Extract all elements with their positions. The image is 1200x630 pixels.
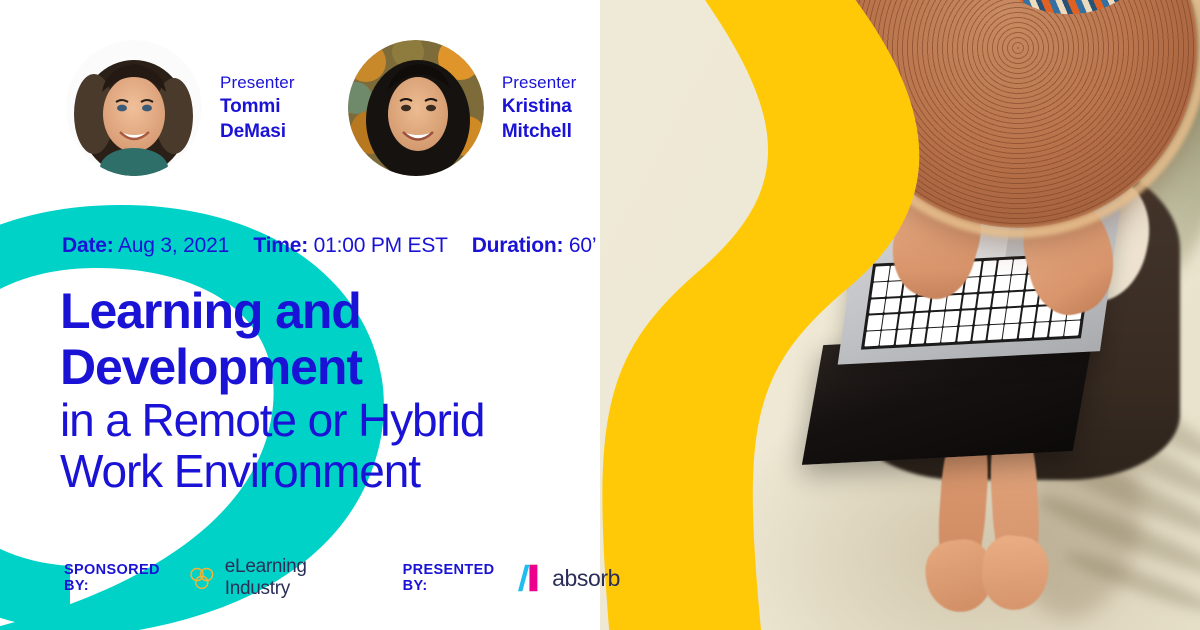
title-line-3: in a Remote or Hybrid (60, 395, 484, 446)
sponsored-by-label: SPONSORED BY: (64, 562, 179, 594)
presenter-name: Kristina Mitchell (502, 94, 620, 144)
time-value: 01:00 PM EST (314, 234, 448, 257)
presenter-name: Tommi DeMasi (220, 94, 326, 144)
date-value: Aug 3, 2021 (118, 234, 229, 257)
sponsor-group: SPONSORED BY: eLearning Industry (64, 556, 365, 600)
footer-logo-row: SPONSORED BY: eLearning Industry PRESENT… (64, 556, 620, 600)
webinar-promo-banner: Presenter Tommi DeMasi (0, 0, 1200, 630)
presenter-card: Presenter Kristina Mitchell (348, 40, 620, 176)
content-column: Presenter Tommi DeMasi (0, 0, 620, 630)
presenter-card: Presenter Tommi DeMasi (66, 40, 326, 176)
avatar (66, 40, 202, 176)
presenter-role: Presenter (220, 72, 326, 94)
trefoil-circles-icon (188, 563, 216, 593)
presenter-meta: Presenter Tommi DeMasi (220, 72, 326, 145)
title-line-2: Development (60, 340, 484, 396)
absorb-wordmark: absorb (552, 565, 620, 592)
webinar-title: Learning and Development in a Remote or … (60, 284, 484, 497)
presented-by-group: PRESENTED BY: absorb (403, 562, 620, 594)
title-line-4: Work Environment (60, 446, 484, 497)
duration-value: 60’ (569, 234, 596, 257)
presenter-role: Presenter (502, 72, 620, 94)
hero-photo (600, 0, 1200, 630)
avatar (348, 40, 484, 176)
date-label: Date: (62, 234, 114, 257)
duration-label: Duration: (472, 234, 564, 257)
event-meta-line: Date: Aug 3, 2021 Time: 01:00 PM EST Dur… (62, 234, 596, 258)
time-label: Time: (253, 234, 308, 257)
presenter-meta: Presenter Kristina Mitchell (502, 72, 620, 145)
headshot-tommi-demasi-icon (66, 40, 202, 176)
title-line-1: Learning and (60, 284, 484, 340)
presenter-row: Presenter Tommi DeMasi (66, 40, 620, 176)
headshot-kristina-mitchell-icon (348, 40, 484, 176)
presented-by-label: PRESENTED BY: (403, 562, 510, 594)
absorb-chevron-icon (518, 563, 543, 593)
sponsor-name: eLearning Industry (225, 556, 365, 600)
